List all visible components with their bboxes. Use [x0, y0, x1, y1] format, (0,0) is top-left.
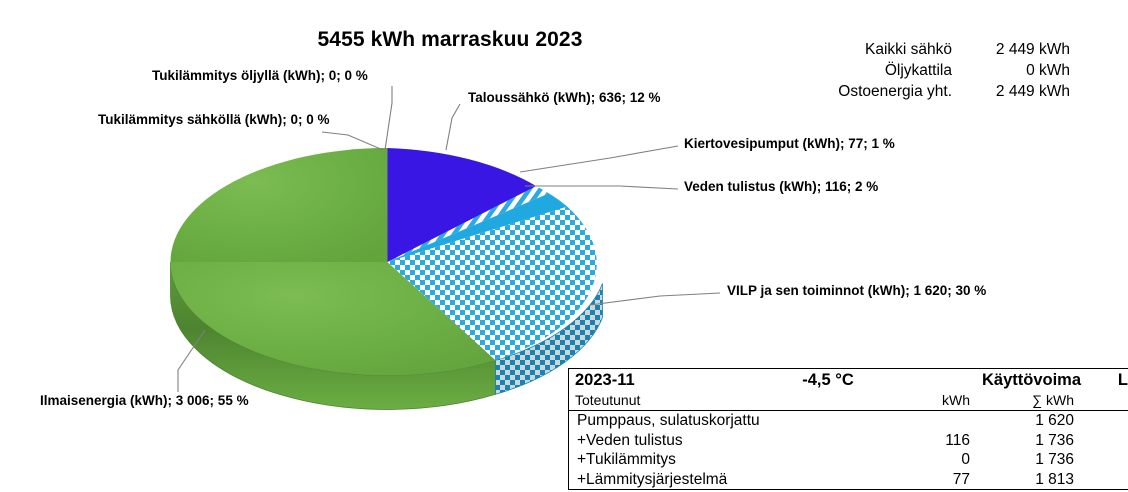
pie-slice-ilmaisenergia	[171, 148, 388, 262]
energy-data-table: 2023-11 -4,5 °C Käyttövoima Lämpö COP To…	[568, 368, 1128, 490]
header-kwh-blank	[880, 369, 976, 392]
table-row: +Lämmitysjärjestelmä 77 1 813 4 819 2,66	[569, 470, 1128, 490]
leader-line-oljylla	[385, 86, 392, 150]
pie-label-kiertovesipumput: Kiertovesipumput (kWh); 77; 1 %	[684, 136, 895, 152]
header-status: Toteutunut	[569, 391, 777, 411]
header-period: 2023-11	[569, 369, 777, 392]
header-unit-sum2: ∑ kWh	[1080, 391, 1128, 411]
row-sum1: 1 736	[976, 450, 1080, 470]
header-temp-blank	[776, 391, 880, 411]
pie-label-tukilammitys-sahkolla: Tukilämmitys sähköllä (kWh); 0; 0 %	[98, 112, 330, 128]
row-kwh	[880, 411, 976, 431]
pie-label-ilmaisenergia: Ilmaisenergia (kWh); 3 006; 55 %	[40, 393, 249, 409]
row-kwh: 77	[880, 470, 976, 490]
pie-label-vilp: VILP ja sen toiminnot (kWh); 1 620; 30 %	[727, 283, 986, 299]
table-row: +Veden tulistus 116 1 736 4 742 2,73	[569, 431, 1128, 451]
header-unit-sum1: ∑ kWh	[976, 391, 1080, 411]
row-sum1: 1 736	[976, 431, 1080, 451]
row-blank	[776, 411, 880, 431]
leader-line-kiertovesi	[520, 146, 678, 172]
leader-line-taloussahko	[446, 104, 460, 150]
row-name: +Tukilämmitys	[569, 450, 777, 470]
table-header-sub: Toteutunut kWh ∑ kWh ∑ kWh	[569, 391, 1128, 411]
row-kwh: 0	[880, 450, 976, 470]
table-header-main: 2023-11 -4,5 °C Käyttövoima Lämpö COP	[569, 369, 1128, 392]
header-lampo: Lämpö	[1080, 369, 1128, 392]
pie-chart-report: 5455 kWh marraskuu 2023 Kaikki sähkö 2 4…	[0, 0, 1128, 492]
pie-label-tukilammitys-oljylla: Tukilämmitys öljyllä (kWh); 0; 0 %	[152, 68, 368, 84]
pie-label-veden-tulistus: Veden tulistus (kWh); 116; 2 %	[684, 179, 878, 195]
row-name: +Veden tulistus	[569, 431, 777, 451]
header-unit-kwh: kWh	[880, 391, 976, 411]
row-name: +Lämmitysjärjestelmä	[569, 470, 777, 490]
row-name: Pumppaus, sulatuskorjattu	[569, 411, 777, 431]
row-kwh: 116	[880, 431, 976, 451]
leader-line-veden	[525, 186, 678, 189]
row-blank	[776, 470, 880, 490]
row-sum1: 1 620	[976, 411, 1080, 431]
pie-label-taloussahko: Taloussähkö (kWh); 636; 12 %	[468, 90, 661, 106]
row-sum2: 4 626	[1080, 411, 1128, 431]
row-sum2: 4 742	[1080, 431, 1128, 451]
leader-line-sahkolla	[322, 132, 383, 150]
row-sum1: 1 813	[976, 470, 1080, 490]
row-sum2: 4 819	[1080, 470, 1128, 490]
header-temperature: -4,5 °C	[776, 369, 880, 392]
row-blank	[776, 450, 880, 470]
row-blank	[776, 431, 880, 451]
leader-line-vilp	[590, 293, 720, 305]
table-row: Pumppaus, sulatuskorjattu 1 620 4 626 2,…	[569, 411, 1128, 431]
header-kayttovoima: Käyttövoima	[976, 369, 1080, 392]
row-sum2: 4 742	[1080, 450, 1128, 470]
table-row: +Tukilämmitys 0 1 736 4 742 2,73	[569, 450, 1128, 470]
